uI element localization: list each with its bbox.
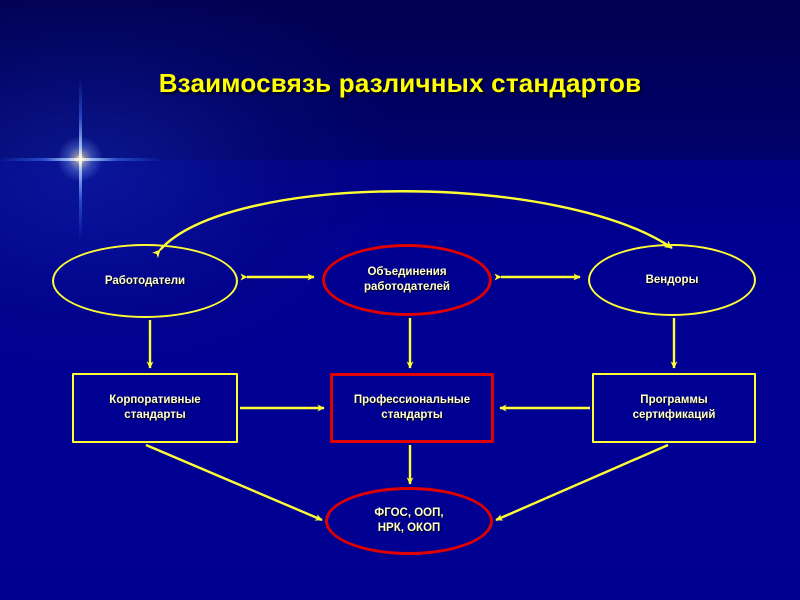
node-employers-label: Работодатели <box>97 274 193 289</box>
node-corporate-standards-label-line2: стандарты <box>124 409 185 421</box>
node-fgos-oop-nrk-okop-label-line2: НРК, ОКОП <box>378 522 441 534</box>
edge-employers-vendors-arc <box>160 191 672 250</box>
node-fgos-oop-nrk-okop-label-line1: ФГОС, ООП, <box>374 507 443 519</box>
edge-corporate-fgos <box>146 445 322 520</box>
node-employers[interactable]: Работодатели <box>52 244 238 318</box>
node-vendors-label: Вендоры <box>638 273 707 288</box>
edge-certification-fgos <box>496 445 668 520</box>
node-vendors[interactable]: Вендоры <box>588 244 756 316</box>
slide-canvas: Взаимосвязь различных стандартов <box>0 0 800 600</box>
node-employer-associations[interactable]: Объединения работодателей <box>322 244 492 316</box>
node-employer-associations-label-line2: работодателей <box>364 281 450 293</box>
node-certification-programs[interactable]: Программы сертификаций <box>592 373 756 443</box>
node-professional-standards-label-line2: стандарты <box>381 409 442 421</box>
node-professional-standards-label-line1: Профессиональные <box>354 394 470 406</box>
node-certification-programs-label-line2: сертификаций <box>633 409 716 421</box>
node-professional-standards[interactable]: Профессиональные стандарты <box>330 373 494 443</box>
node-corporate-standards[interactable]: Корпоративные стандарты <box>72 373 238 443</box>
node-fgos-oop-nrk-okop[interactable]: ФГОС, ООП, НРК, ОКОП <box>325 487 493 555</box>
node-corporate-standards-label-line1: Корпоративные <box>109 394 200 406</box>
node-employer-associations-label-line1: Объединения <box>367 266 446 278</box>
node-certification-programs-label-line1: Программы <box>640 394 707 406</box>
